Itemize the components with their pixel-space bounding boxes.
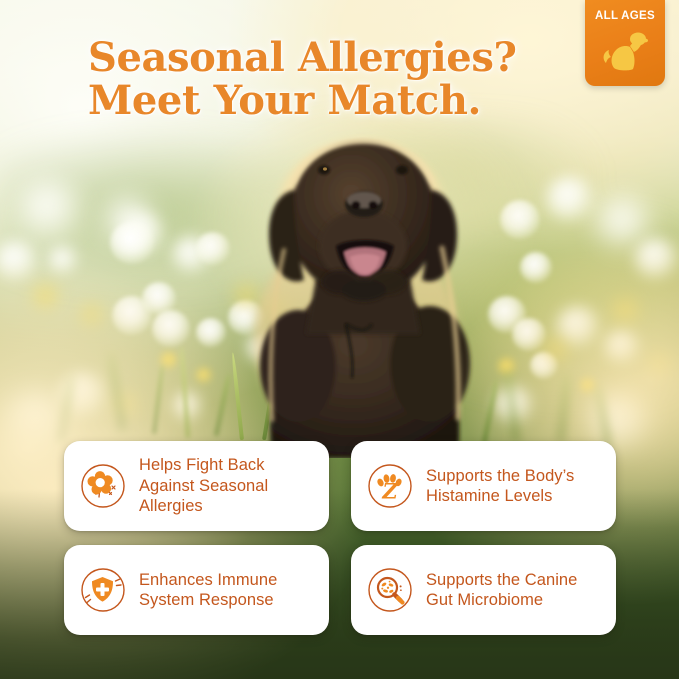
feature-card-label: Helps Fight Back Against Seasonal Allerg… bbox=[139, 455, 315, 516]
paw-print-histamine-icon: Z bbox=[367, 463, 413, 509]
page-title: Seasonal Allergies? Meet Your Match. bbox=[88, 36, 558, 122]
magnifying-glass-microbiome-icon bbox=[367, 567, 413, 613]
feature-card-allergies[interactable]: Helps Fight Back Against Seasonal Allerg… bbox=[64, 441, 329, 531]
sitting-dog-silhouette-icon bbox=[600, 28, 650, 78]
shield-plus-immune-icon bbox=[80, 567, 126, 613]
dog-photo bbox=[228, 128, 498, 458]
feature-card-label: Supports the Body’s Histamine Levels bbox=[426, 466, 602, 507]
product-banner: Seasonal Allergies? Meet Your Match. ALL… bbox=[0, 0, 679, 679]
flower-pollen-icon bbox=[80, 463, 126, 509]
feature-card-histamine[interactable]: Z Supports the Body’s Histamine Levels bbox=[351, 441, 616, 531]
dog-silhouette-icon bbox=[228, 128, 498, 458]
feature-card-immune[interactable]: Enhances Immune System Response bbox=[64, 545, 329, 635]
all-ages-badge: ALL AGES bbox=[585, 0, 665, 86]
all-ages-label: ALL AGES bbox=[595, 11, 655, 23]
feature-card-label: Supports the Canine Gut Microbiome bbox=[426, 570, 602, 611]
headline-line-2: Meet Your Match. bbox=[88, 79, 558, 122]
feature-card-label: Enhances Immune System Response bbox=[139, 570, 315, 611]
feature-card-microbiome[interactable]: Supports the Canine Gut Microbiome bbox=[351, 545, 616, 635]
feature-card-grid: Helps Fight Back Against Seasonal Allerg… bbox=[64, 441, 616, 635]
svg-text:Z: Z bbox=[381, 479, 398, 504]
headline-line-1: Seasonal Allergies? bbox=[88, 34, 517, 81]
